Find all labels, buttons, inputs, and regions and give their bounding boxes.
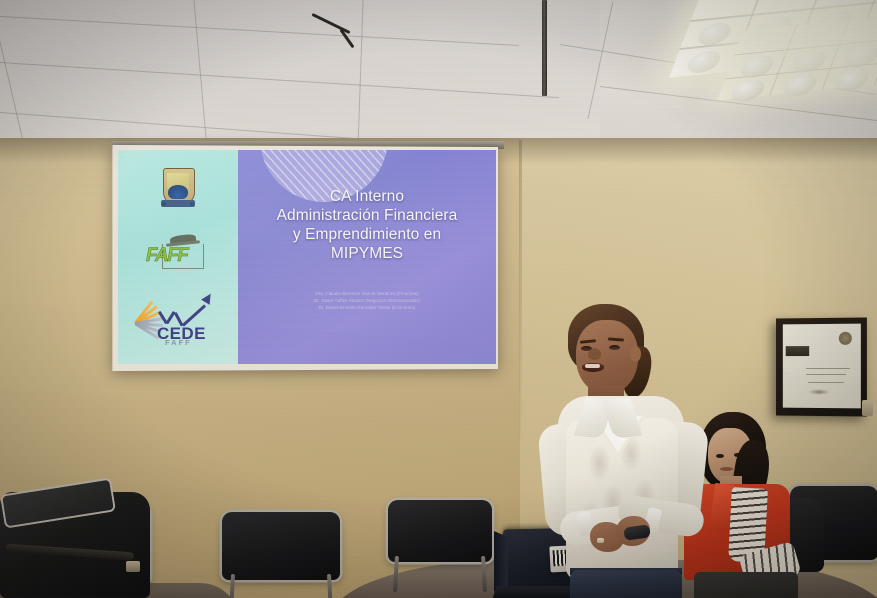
framed-certificate [776, 317, 867, 416]
slide-title-line: MIPYMES [244, 245, 490, 264]
ceiling-rod [542, 0, 547, 96]
ceiling-left-section [0, 0, 600, 150]
slide-content-panel: CA Interno Administración Financiera y E… [238, 150, 496, 364]
slide-author-line: Dra. Claudia Berenice García Mendoza (Fi… [248, 290, 486, 297]
presenter-face [576, 320, 638, 394]
slide-author-line: Dr. Daniel Ernesto González Torres (Econ… [248, 304, 486, 311]
slide-author-line: Dr. Javier Yáñez Álvarez (Negocios Inter… [248, 297, 486, 304]
cede-logo-sublabel: FAFF [165, 338, 192, 347]
faff-logo-icon: FAFF [146, 236, 210, 270]
slide-title: CA Interno Administración Financiera y E… [238, 188, 496, 264]
standing-presenter [520, 300, 720, 598]
cede-logo-icon: CEDE FAFF [135, 294, 221, 348]
slide-logo-panel: FAFF CEDE [118, 150, 238, 364]
slide-title-line: Administración Financiera [244, 207, 490, 226]
bag-buckle [126, 561, 140, 572]
presenter-ring [597, 538, 604, 543]
ceiling [0, 0, 877, 150]
presenter-jeans [570, 570, 682, 598]
slide-title-line: y Emprendimiento en [244, 226, 490, 245]
slide-title-line: CA Interno [244, 188, 490, 207]
faff-logo-label: FAFF [146, 245, 210, 267]
university-crest-icon [159, 166, 197, 212]
certificate-plaque [786, 346, 809, 356]
wall-fixture [862, 400, 873, 416]
certificate-seal-icon [839, 332, 852, 345]
cede-growth-arrow-icon [159, 294, 213, 328]
slide-author-list: Dra. Claudia Berenice García Mendoza (Fi… [238, 290, 496, 311]
presentation-slide: FAFF CEDE [118, 150, 496, 364]
photo-scene: FAFF CEDE [0, 0, 877, 598]
